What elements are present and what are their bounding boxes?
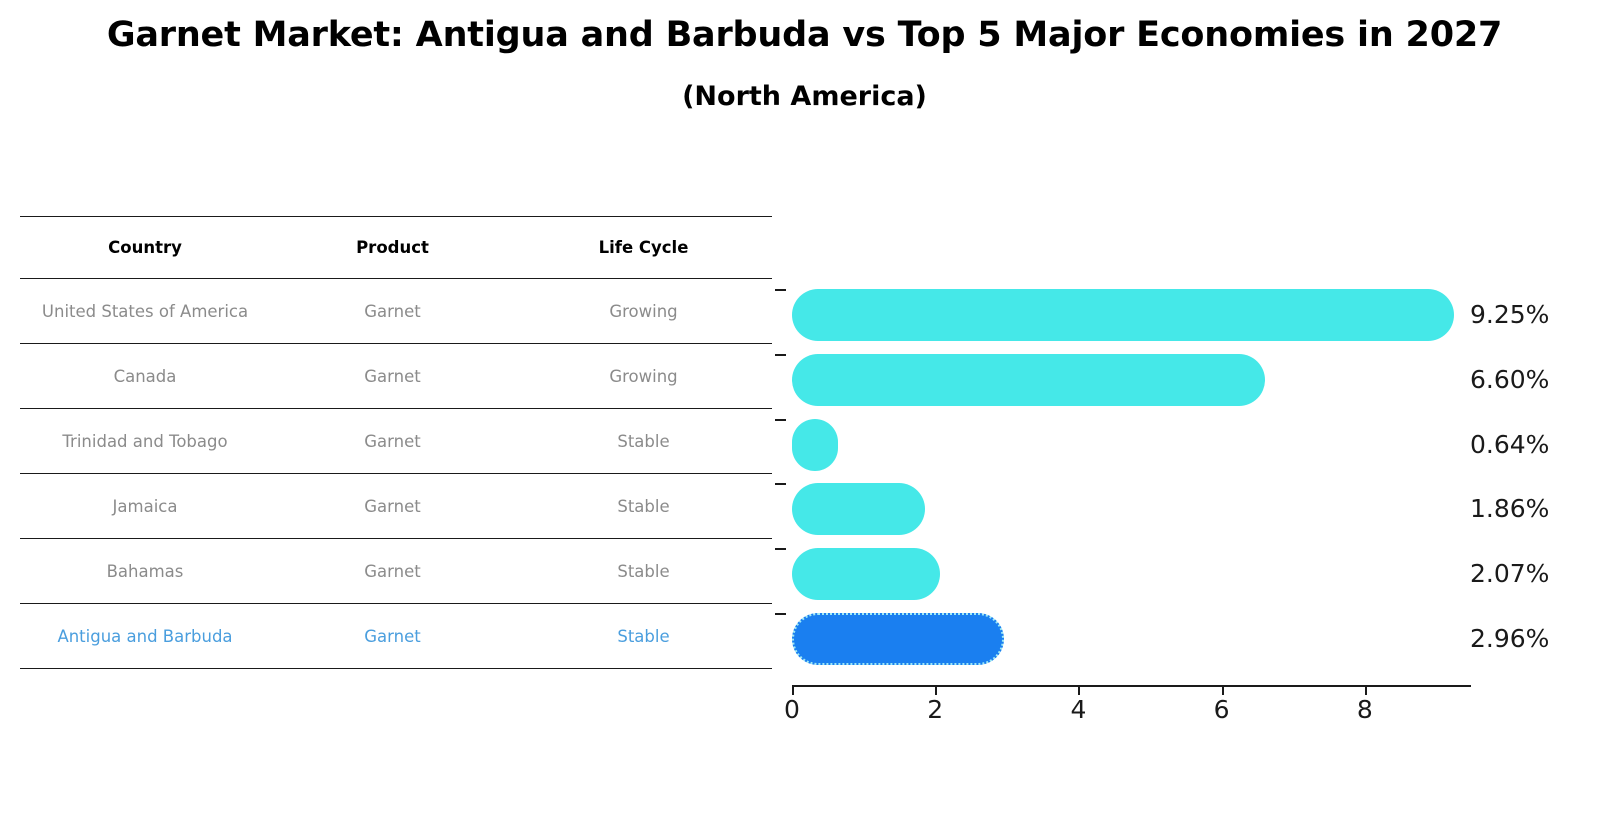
x-axis-tick-label: 6 <box>1202 697 1242 722</box>
x-axis-tick-label: 8 <box>1345 697 1385 722</box>
bar-highlighted <box>792 613 1004 665</box>
bar <box>792 289 1454 341</box>
x-axis-tick-label: 0 <box>772 697 812 722</box>
bar-value-label: 0.64% <box>1470 432 1549 457</box>
y-axis-tick <box>775 548 786 550</box>
bar-value-label: 2.96% <box>1470 626 1549 651</box>
x-axis-tick <box>1365 685 1367 695</box>
x-axis-tick-label: 2 <box>915 697 955 722</box>
bar <box>792 419 838 471</box>
x-axis-tick <box>935 685 937 695</box>
x-axis-line <box>792 685 1471 687</box>
y-axis-tick <box>775 613 786 615</box>
bar-value-label: 6.60% <box>1470 367 1549 392</box>
bar-value-label: 1.86% <box>1470 496 1549 521</box>
x-axis-tick <box>1222 685 1224 695</box>
x-axis-tick-label: 4 <box>1058 697 1098 722</box>
bar <box>792 483 925 535</box>
chart-page: Garnet Market: Antigua and Barbuda vs To… <box>0 0 1609 823</box>
x-axis-tick <box>792 685 794 695</box>
bar-value-label: 2.07% <box>1470 561 1549 586</box>
bar <box>792 548 940 600</box>
bar-value-label: 9.25% <box>1470 302 1549 327</box>
bar-chart: 9.25%6.60%0.64%1.86%2.07%2.96% 02468 <box>0 0 1609 823</box>
y-axis-tick <box>775 289 786 291</box>
x-axis-tick <box>1078 685 1080 695</box>
y-axis-tick <box>775 354 786 356</box>
y-axis-tick <box>775 419 786 421</box>
bar <box>792 354 1265 406</box>
y-axis-tick <box>775 483 786 485</box>
